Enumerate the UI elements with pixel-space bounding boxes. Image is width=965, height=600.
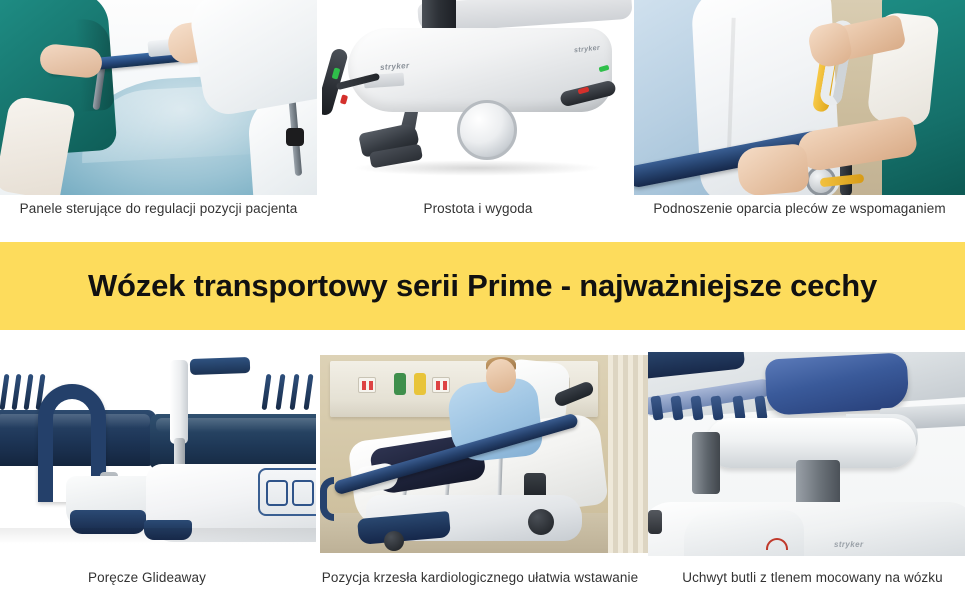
headline-banner: Wózek transportowy serii Prime - najważn… [0, 242, 965, 330]
patient-gown [187, 0, 317, 118]
caption-simplicity: Prostota i wygoda [322, 201, 634, 216]
feature-collage-page: Panele sterujące do regulacji pozycji pa… [0, 0, 965, 600]
navy-push-handle[interactable] [190, 357, 251, 375]
siderail-end [320, 477, 334, 521]
photo-control-panels [0, 0, 317, 195]
wall-outlet [432, 377, 450, 393]
cable-end [648, 510, 662, 534]
wall-outlet [358, 377, 376, 393]
caster-wheel [528, 509, 554, 535]
image-cardiac-chair [320, 355, 648, 553]
support-column-left [692, 432, 720, 494]
privacy-curtain [608, 355, 648, 553]
photo-cardiac-chair [320, 355, 648, 553]
image-simplicity: stryker stryker [322, 0, 634, 195]
caregiver-lower-hand [736, 143, 810, 195]
image-oxygen-holder: stryker [648, 352, 965, 556]
caption-oxygen-holder: Uchwyt butli z tlenem mocowany na wózku [660, 570, 965, 585]
caster-wheel [384, 531, 404, 551]
photo-simplicity: stryker stryker [322, 0, 634, 195]
patient-head [486, 359, 516, 393]
photo-oxygen-holder: stryker [648, 352, 965, 556]
stryker-logo: stryker [834, 540, 864, 549]
image-control-panels [0, 0, 317, 195]
photo-backrest [634, 0, 965, 195]
image-glideaway [0, 352, 316, 556]
gas-port-green [394, 373, 406, 395]
blue-hydraulic-cover [765, 352, 910, 415]
white-telescoping-post [170, 360, 188, 444]
floor-shadow [0, 528, 316, 544]
image-backrest [634, 0, 965, 195]
banner-title: Wózek transportowy serii Prime - najważn… [88, 268, 877, 304]
blue-graphic-decal [258, 468, 316, 516]
front-caster [457, 100, 517, 160]
caption-backrest: Podnoszenie oparcia pleców ze wspomagani… [634, 201, 965, 216]
caption-control-panels: Panele sterujące do regulacji pozycji pa… [0, 201, 317, 216]
caption-glideaway: Poręcze Glideaway [0, 570, 294, 585]
photo-glideaway [0, 352, 316, 556]
caption-cardiac-chair: Pozycja krzesła kardiologicznego ułatwia… [294, 570, 666, 585]
iv-pole-holders-right [262, 374, 316, 412]
rail-knob [286, 128, 304, 146]
gas-port-yellow [414, 373, 426, 395]
